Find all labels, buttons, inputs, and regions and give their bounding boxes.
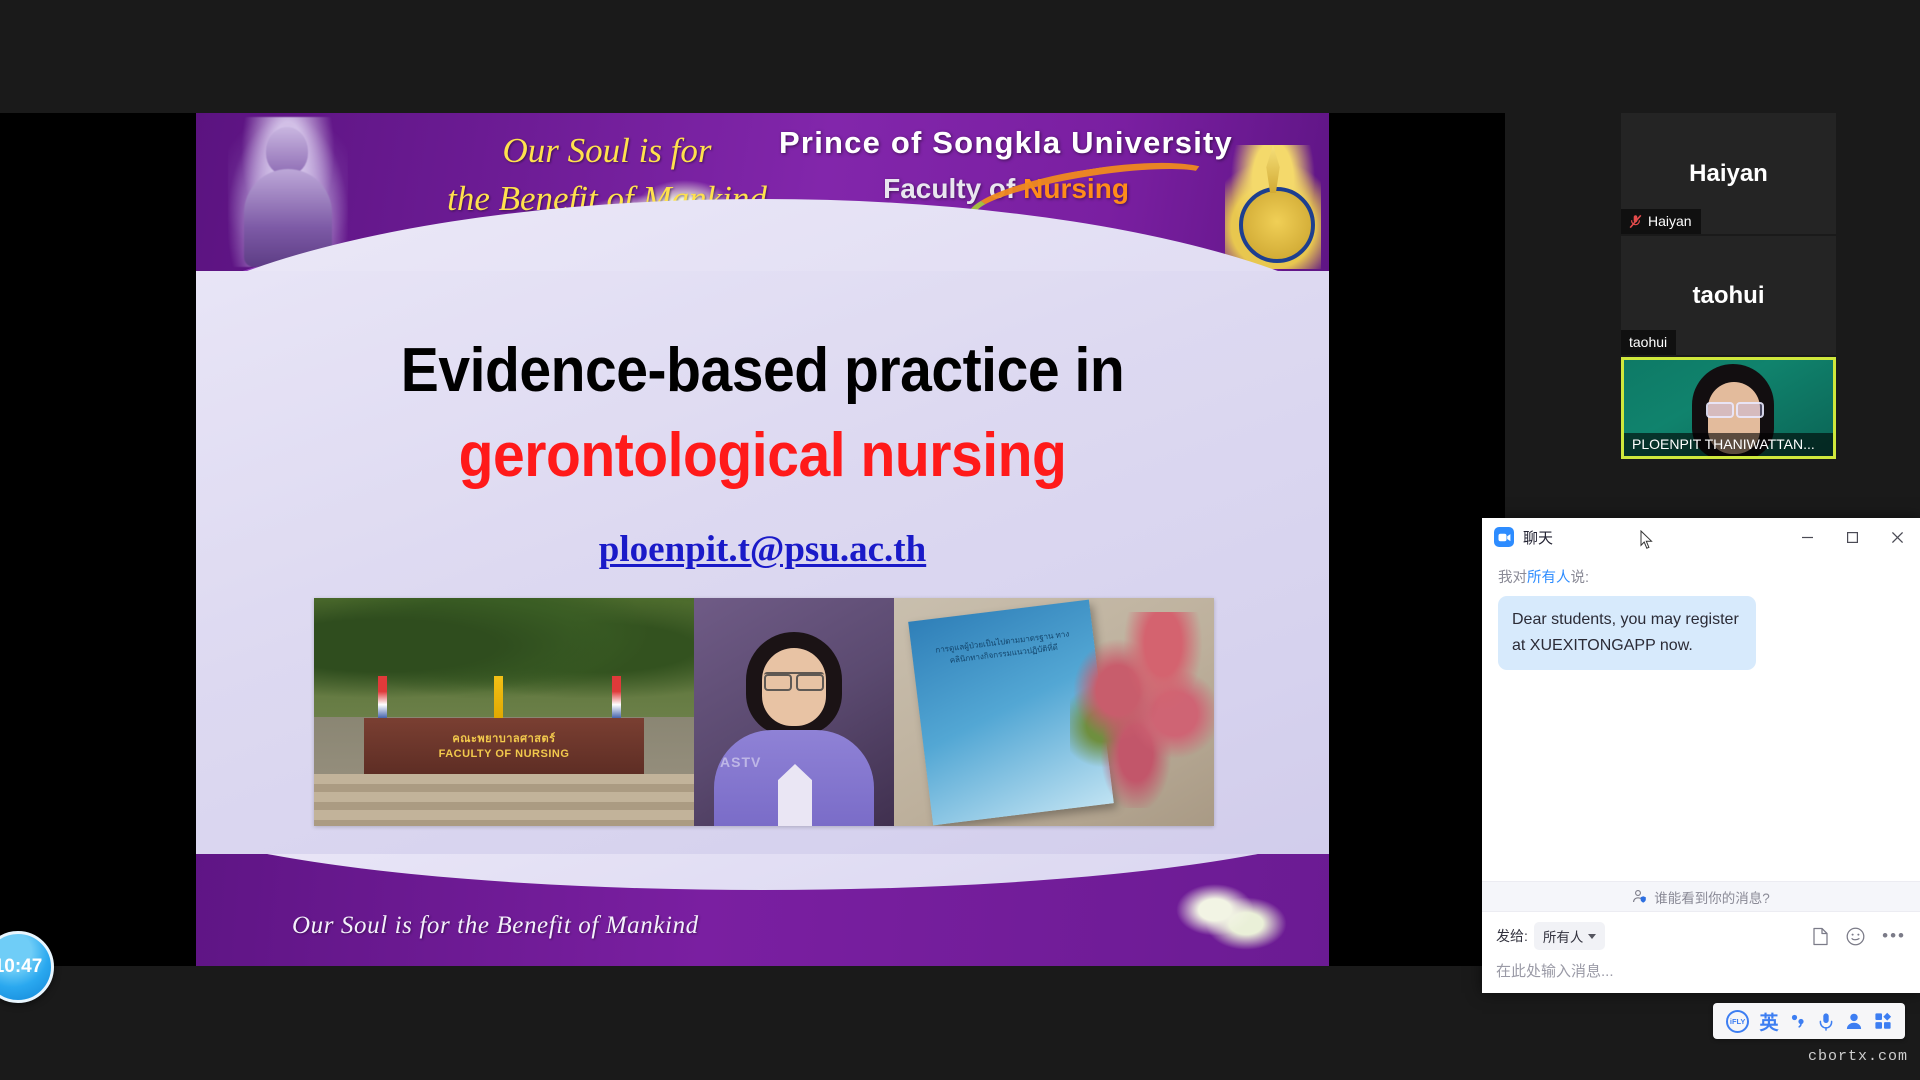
file-attach-icon[interactable] [1812,927,1829,946]
close-button[interactable] [1875,518,1920,556]
sender-target: 所有人 [1527,570,1571,586]
send-to-label: 发给: [1496,926,1528,946]
send-to-value: 所有人 [1543,926,1584,946]
motto-line-1: Our Soul is for [392,127,822,175]
flag-right-decor [612,676,621,720]
chat-message-bubble[interactable]: Dear students, you may register at XUEXI… [1498,596,1756,670]
trees-decor [314,598,694,717]
sender-prefix: 我对 [1498,570,1527,586]
site-watermark: cbortx.com [1808,1048,1908,1065]
slide-title-line-2: gerontological nursing [241,423,1283,488]
flowers-decor [1070,612,1214,808]
mic-muted-icon [1629,214,1642,229]
mouse-cursor [1640,530,1654,555]
apps-grid-icon[interactable] [1874,1012,1892,1030]
presenter-email-link[interactable]: ploenpit.t@psu.ac.th [196,528,1329,571]
slide-title-block: Evidence-based practice in gerontologica… [196,338,1329,488]
minimize-button[interactable] [1785,518,1830,556]
portrait-glasses [764,672,824,685]
ime-language-mode[interactable]: 英 [1759,1008,1778,1035]
faculty-sign: คณะพยาบาลศาสตร์ FACULTY OF NURSING [364,718,644,776]
slide-title-line-1: Evidence-based practice in [241,338,1283,403]
chat-composer-toolbar: 发给: 所有人 [1496,922,1906,950]
ifly-logo-icon[interactable]: iFLY [1726,1010,1749,1033]
motto-line-2: the Benefit of Mankind [392,175,822,223]
ime-toolbar: iFLY 英 [1713,1003,1905,1039]
faculty-sign-english: FACULTY OF NURSING [439,747,570,762]
slide-motto-top: Our Soul is for the Benefit of Mankind [392,127,822,223]
statue-image [228,117,348,267]
participant-tile-taohui[interactable]: taohui taohui [1621,236,1836,355]
slide-photo-strip: คณะพยาบาลศาสตร์ FACULTY OF NURSING ASTV … [314,598,1214,826]
faculty-sign-thai: คณะพยาบาลศาสตร์ [452,732,555,747]
header-swoosh-decor [196,207,1329,271]
composer-action-icons: ••• [1812,927,1906,946]
book-cover-text: การดูแลผู้ป่วยเป็นไปตามมาตรฐาน ทางคลินิก… [927,627,1079,668]
slide-footer-motto: Our Soul is for the Benefit of Mankind [292,912,699,940]
person-shield-icon [1632,889,1647,904]
photo-watermark: ASTV [720,754,761,770]
chat-message-list[interactable]: 我对所有人说: Dear students, you may register … [1482,556,1920,881]
photo-book-and-flowers: การดูแลผู้ป่วยเป็นไปตามมาตรฐาน ทางคลินิก… [894,598,1214,826]
university-name: Prince of Songkla University [779,125,1233,161]
chat-privacy-text: 谁能看到你的消息? [1654,887,1770,907]
chat-message-sender-line: 我对所有人说: [1498,566,1904,587]
participant-tile-haiyan[interactable]: Haiyan Haiyan [1621,113,1836,234]
flag-center-decor [494,676,503,720]
chat-window: 聊天 我对所有人说: Dear students, you may regist… [1482,518,1920,993]
punctuation-icon[interactable] [1789,1012,1807,1030]
photo-faculty-building: คณะพยาบาลศาสตร์ FACULTY OF NURSING [314,598,694,826]
participant-name-text: taohui [1629,334,1667,350]
active-speaker-tile[interactable]: PLOENPIT THANIWATTAN... [1621,357,1836,459]
chat-privacy-notice[interactable]: 谁能看到你的消息? [1482,881,1920,911]
speaker-glasses [1706,402,1764,415]
participant-label: taohui [1621,330,1676,355]
slide-footer-banner: Our Soul is for the Benefit of Mankind [196,854,1329,966]
participant-avatar-name: taohui [1621,282,1836,310]
zoom-app-icon [1494,527,1514,547]
screen-root: Our Soul is for the Benefit of Mankind P… [0,0,1920,1080]
window-controls [1785,518,1920,556]
steps-decor [314,774,694,826]
chat-window-title: 聊天 [1523,527,1553,548]
maximize-button[interactable] [1830,518,1875,556]
sender-suffix: 说: [1571,570,1590,586]
photo-presenter-portrait: ASTV [694,598,894,826]
slide-header-banner: Our Soul is for the Benefit of Mankind P… [196,113,1329,271]
chevron-down-icon [1588,934,1596,939]
footer-lily-decor [1167,872,1287,958]
participant-name-text: Haiyan [1648,213,1692,229]
presentation-slide: Our Soul is for the Benefit of Mankind P… [196,113,1329,966]
chat-composer: 发给: 所有人 [1482,911,1920,993]
university-seal-icon [1225,145,1321,269]
more-options-icon[interactable]: ••• [1882,931,1906,941]
participant-avatar-name: Haiyan [1621,160,1836,188]
send-to-dropdown[interactable]: 所有人 [1534,922,1606,950]
meeting-timer-badge[interactable]: 10:47 [0,931,54,1003]
flag-left-decor [378,676,387,720]
voice-input-icon[interactable] [1817,1012,1835,1031]
user-account-icon[interactable] [1845,1012,1863,1030]
participant-label: Haiyan [1621,209,1701,234]
active-speaker-name: PLOENPIT THANIWATTAN... [1624,433,1833,456]
emoji-icon[interactable] [1846,927,1865,946]
shared-screen-stage: Our Soul is for the Benefit of Mankind P… [0,113,1505,966]
chat-input[interactable]: 在此处输入消息... [1496,960,1906,981]
chat-window-titlebar[interactable]: 聊天 [1482,518,1920,556]
